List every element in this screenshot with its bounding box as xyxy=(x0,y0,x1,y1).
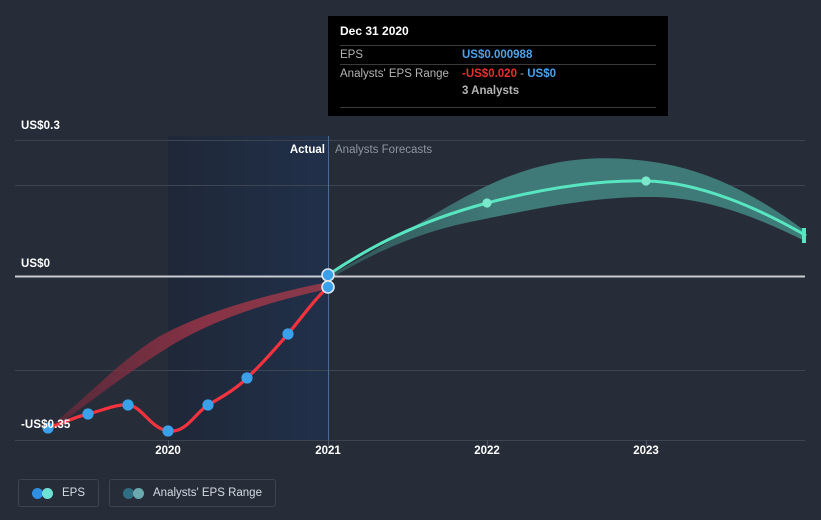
eps-swatch-icon xyxy=(32,488,54,499)
analysts-range-swatch-icon xyxy=(123,488,145,499)
tooltip-title: Dec 31 2020 xyxy=(340,24,656,45)
x-axis-label-2020: 2020 xyxy=(155,445,181,457)
legend-item-eps-label: EPS xyxy=(62,487,85,499)
tooltip-footer-divider xyxy=(340,107,656,108)
tooltip-range-high: US$0 xyxy=(527,68,556,80)
tooltip-eps-label: EPS xyxy=(340,49,462,61)
x-axis-label-2022: 2022 xyxy=(474,445,500,457)
tooltip-analyst-count: 3 Analysts xyxy=(340,83,656,97)
tooltip-row-eps: EPS US$0.000988 xyxy=(340,45,656,64)
actual-period-label: Actual xyxy=(290,144,325,156)
tooltip-range-values: -US$0.020 - US$0 xyxy=(462,68,556,80)
data-point-tooltip: Dec 31 2020 EPS US$0.000988 Analysts' EP… xyxy=(328,16,668,116)
eps-forecast-chart: US$0.3 US$0 -US$0.35 2020 2021 2022 2023… xyxy=(0,0,821,520)
tooltip-range-label: Analysts' EPS Range xyxy=(340,68,462,80)
legend-item-analysts-range[interactable]: Analysts' EPS Range xyxy=(109,479,276,507)
tooltip-range-separator: - xyxy=(517,68,527,80)
chart-legend: EPS Analysts' EPS Range xyxy=(18,479,276,507)
tooltip-range-low: -US$0.020 xyxy=(462,68,517,80)
forecast-range-band xyxy=(328,158,805,279)
tooltip-row-range: Analysts' EPS Range -US$0.020 - US$0 xyxy=(340,64,656,83)
x-axis-label-2023: 2023 xyxy=(633,445,659,457)
legend-item-eps[interactable]: EPS xyxy=(18,479,99,507)
tooltip-eps-value: US$0.000988 xyxy=(462,49,532,61)
forecast-period-label: Analysts Forecasts xyxy=(335,144,432,156)
legend-item-analysts-range-label: Analysts' EPS Range xyxy=(153,487,262,499)
x-axis-label-2021: 2021 xyxy=(315,445,341,457)
